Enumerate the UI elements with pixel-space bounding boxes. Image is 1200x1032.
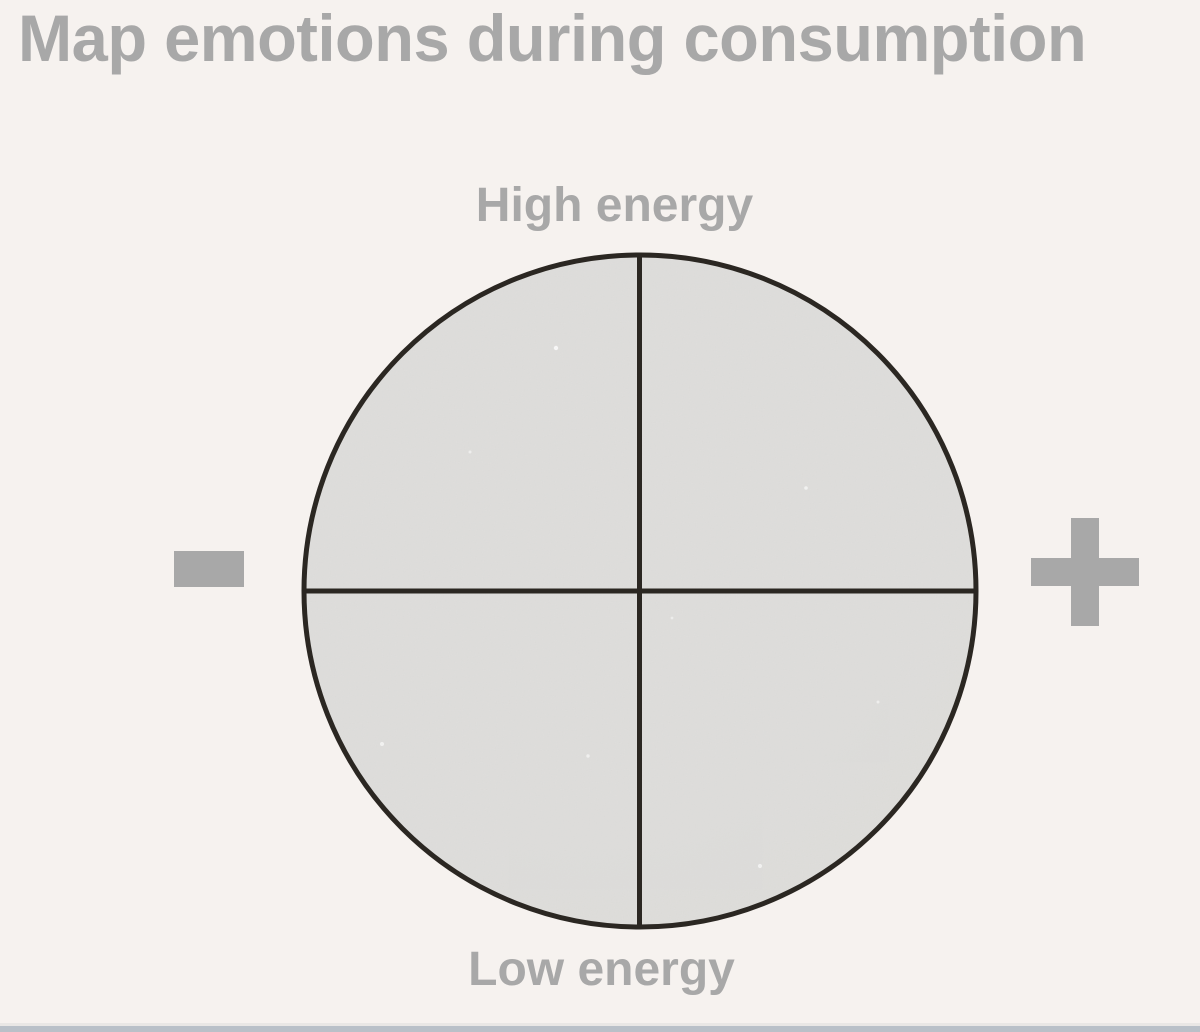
plus-icon [1031,518,1139,626]
footer-band [0,1026,1200,1032]
slide-canvas: Map emotions during consumption High ene… [0,0,1200,1032]
minus-icon [174,551,244,587]
quadrant-lower-left[interactable] [304,591,640,927]
emotion-wheel-svg [0,0,1200,1032]
axis-label-low-energy: Low energy [0,946,1200,994]
quadrant-upper-right[interactable] [640,255,976,591]
quadrant-upper-left[interactable] [304,255,640,591]
emotion-wheel [0,0,1200,1032]
quadrant-lower-right[interactable] [640,591,976,927]
plus-icon-vertical-bar [1071,518,1099,626]
